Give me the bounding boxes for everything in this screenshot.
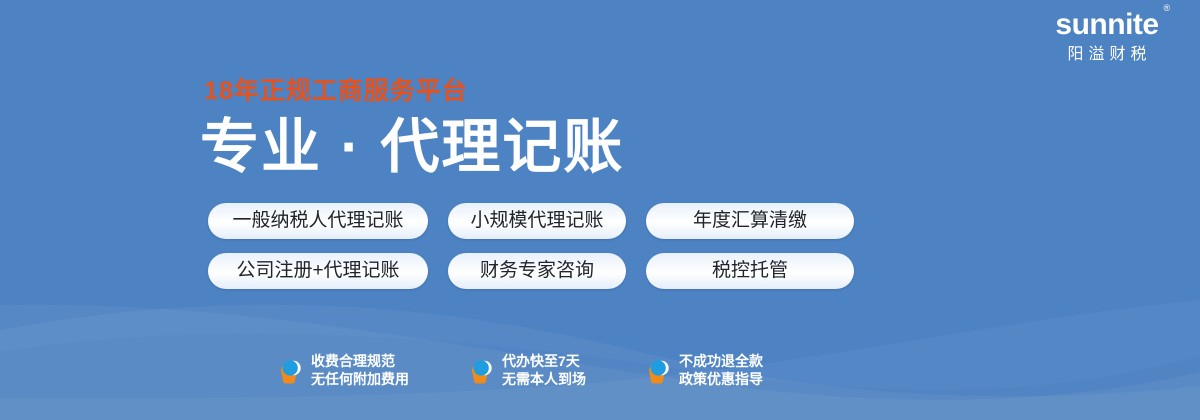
logo-chinese-name: 阳溢财税: [1032, 44, 1182, 66]
service-pill[interactable]: 小规模代理记账: [448, 203, 626, 239]
feature-item: 收费合理规范 无任何附加费用: [276, 352, 409, 388]
service-pill[interactable]: 财务专家咨询: [448, 253, 626, 289]
service-pill[interactable]: 年度汇算清缴: [646, 203, 854, 239]
moon-circle-icon: [467, 355, 493, 385]
service-pill[interactable]: 公司注册+代理记账: [208, 253, 428, 289]
moon-circle-icon: [276, 355, 302, 385]
feature-item: 代办快至7天 无需本人到场: [467, 352, 586, 388]
service-pill-row: 一般纳税人代理记账 小规模代理记账 年度汇算清缴: [208, 203, 854, 239]
brand-logo: sunnite ® 阳溢财税: [1032, 8, 1182, 66]
feature-line-1: 代办快至7天: [502, 353, 580, 369]
feature-line-1: 收费合理规范: [311, 353, 395, 369]
hero-eyebrow: 18年正规工商服务平台: [204, 76, 468, 106]
registered-trademark-icon: ®: [1163, 4, 1169, 13]
feature-label: 收费合理规范 无任何附加费用: [311, 352, 409, 388]
feature-line-2: 无需本人到场: [502, 371, 586, 387]
logo-wordmark: sunnite ®: [1055, 8, 1158, 42]
promo-banner: sunnite ® 阳溢财税 18年正规工商服务平台 专业 · 代理记账 一般纳…: [0, 0, 1200, 420]
feature-line-1: 不成功退全款: [679, 353, 763, 369]
service-pill-group: 一般纳税人代理记账 小规模代理记账 年度汇算清缴 公司注册+代理记账 财务专家咨…: [208, 203, 854, 289]
feature-strip: 收费合理规范 无任何附加费用 代办快至7天 无需本人到场: [276, 352, 763, 388]
service-pill-row: 公司注册+代理记账 财务专家咨询 税控托管: [208, 253, 854, 289]
service-pill[interactable]: 一般纳税人代理记账: [208, 203, 428, 239]
feature-line-2: 政策优惠指导: [679, 371, 763, 387]
logo-wordmark-text: sunnite: [1055, 8, 1158, 41]
moon-circle-icon: [644, 355, 670, 385]
feature-label: 不成功退全款 政策优惠指导: [679, 352, 763, 388]
service-pill[interactable]: 税控托管: [646, 253, 854, 289]
feature-item: 不成功退全款 政策优惠指导: [644, 352, 763, 388]
feature-label: 代办快至7天 无需本人到场: [502, 352, 586, 388]
hero-title: 专业 · 代理记账: [200, 112, 624, 182]
feature-line-2: 无任何附加费用: [311, 371, 409, 387]
